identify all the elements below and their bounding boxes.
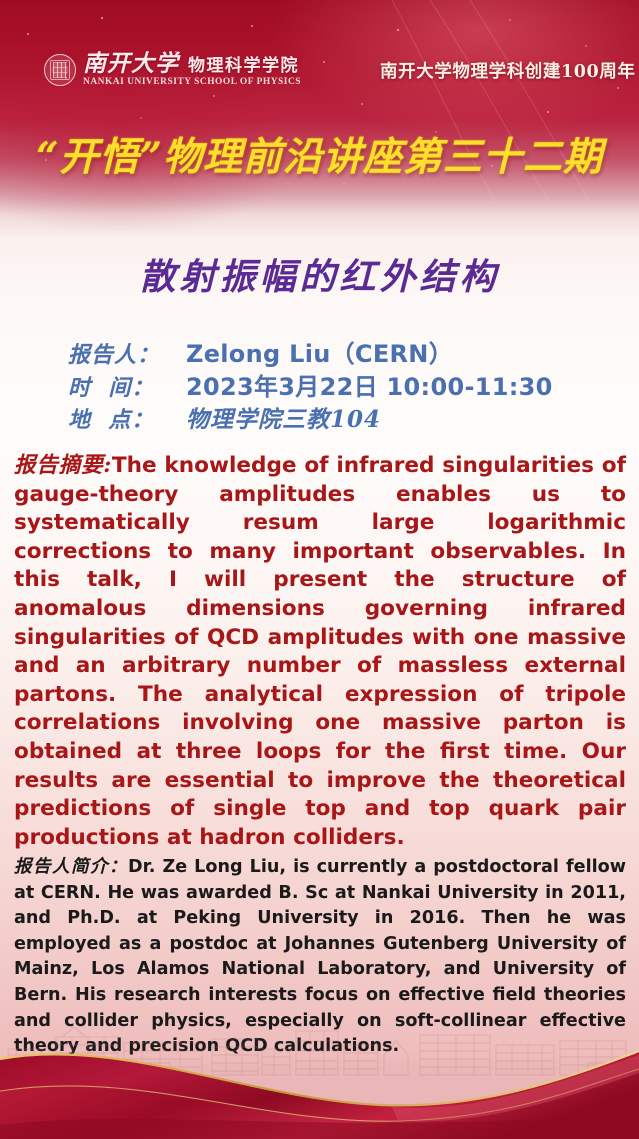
bio-section: 报告人简介：Dr. Ze Long Liu, is currently a po… bbox=[14, 854, 626, 1060]
lecture-series-title: “开悟”物理前沿讲座第三十二期 bbox=[0, 126, 639, 182]
university-name-cn: 南开大学 bbox=[83, 52, 179, 75]
university-seal-icon bbox=[44, 54, 76, 86]
logo-text: 南开大学 物理科学学院 NANKAI UNIVERSITY SCHOOL OF … bbox=[83, 52, 301, 87]
abstract-text: The knowledge of infrared singularities … bbox=[14, 453, 626, 850]
header-glow bbox=[0, 0, 639, 230]
time-label: 时 间： bbox=[68, 370, 186, 402]
lecture-poster: 南开大学 物理科学学院 NANKAI UNIVERSITY SCHOOL OF … bbox=[0, 0, 639, 1139]
location-label: 地 点： bbox=[68, 402, 186, 434]
lecture-topic-title: 散射振幅的红外结构 bbox=[0, 248, 639, 300]
time-value: 2023年3月22日 10:00-11:30 bbox=[186, 367, 553, 402]
bio-text: Dr. Ze Long Liu, is currently a postdoct… bbox=[14, 857, 626, 1056]
bio-label: 报告人简介： bbox=[14, 856, 128, 877]
university-name-en: NANKAI UNIVERSITY SCHOOL OF PHYSICS bbox=[83, 78, 301, 87]
abstract-label: 报告摘要: bbox=[14, 453, 112, 478]
location-row: 地 点： 物理学院三教104 bbox=[68, 400, 628, 433]
poster-header: 南开大学 物理科学学院 NANKAI UNIVERSITY SCHOOL OF … bbox=[0, 50, 639, 96]
time-row: 时 间： 2023年3月22日 10:00-11:30 bbox=[68, 367, 628, 400]
location-value: 物理学院三教104 bbox=[186, 400, 381, 434]
speaker-value: Zelong Liu（CERN） bbox=[186, 334, 453, 369]
speaker-row: 报告人： Zelong Liu（CERN） bbox=[68, 334, 628, 367]
school-name-cn: 物理科学学院 bbox=[188, 58, 299, 75]
nankai-logo: 南开大学 物理科学学院 NANKAI UNIVERSITY SCHOOL OF … bbox=[44, 52, 301, 87]
speaker-label: 报告人： bbox=[68, 337, 186, 369]
lecture-info-block: 报告人： Zelong Liu（CERN） 时 间： 2023年3月22日 10… bbox=[68, 334, 628, 433]
header-sparkles-decoration bbox=[0, 0, 639, 220]
abstract-section: 报告摘要:The knowledge of infrared singulari… bbox=[14, 452, 626, 852]
anniversary-banner: 南开大学物理学科创建100周年 bbox=[380, 58, 636, 83]
